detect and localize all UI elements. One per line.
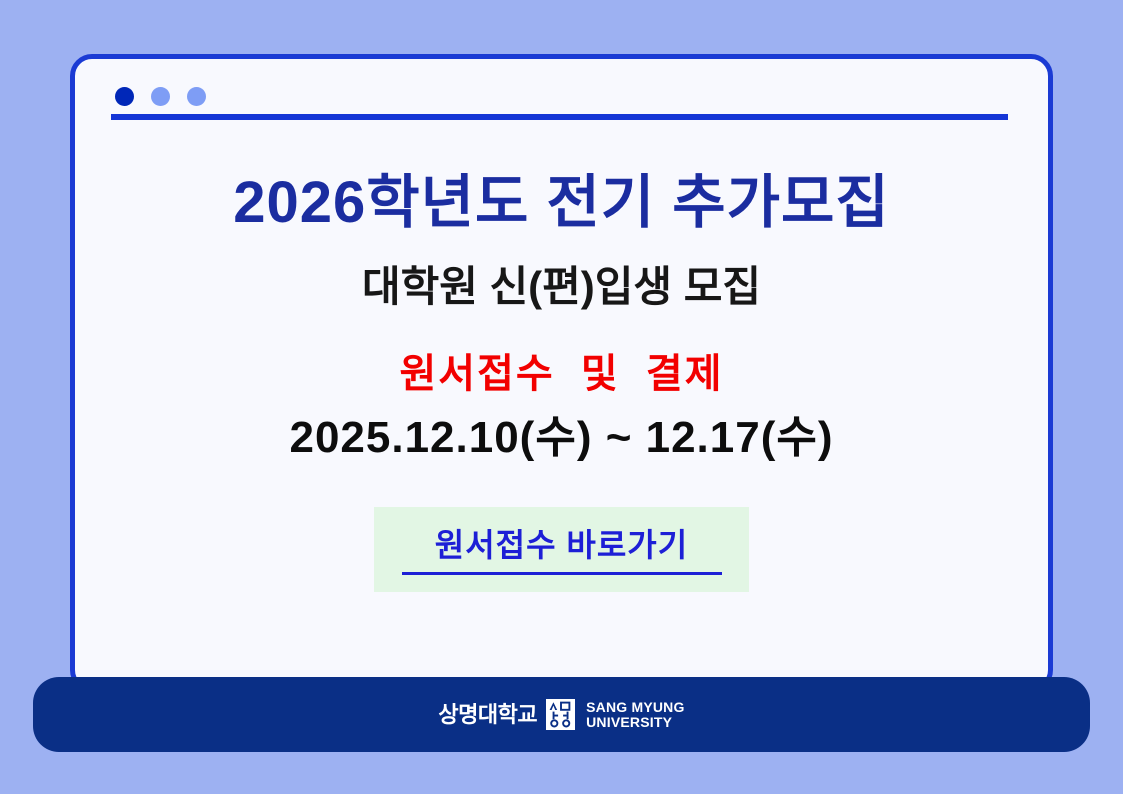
university-brand: 상명대학교 <box>438 699 684 730</box>
cta-container: 원서접수 바로가기 <box>75 507 1048 592</box>
footer-bar: 상명대학교 <box>33 677 1090 752</box>
application-period-dates: 2025.12.10(수) ~ 12.17(수) <box>75 414 1048 462</box>
window-dot-icon-1[interactable] <box>115 87 134 106</box>
poster-content: 2026학년도 전기 추가모집 대학원 신(편)입생 모집 원서접수 및 결제 … <box>75 171 1048 592</box>
page-subtitle: 대학원 신(편)입생 모집 <box>75 264 1048 310</box>
brand-english-line-1: SANG MYUNG <box>586 700 684 714</box>
window-dot-icon-2[interactable] <box>151 87 170 106</box>
brand-english-name: SANG MYUNG UNIVERSITY <box>586 700 684 729</box>
page-title: 2026학년도 전기 추가모집 <box>75 171 1048 235</box>
window-dot-icon-3[interactable] <box>187 87 206 106</box>
window-dots <box>115 87 206 106</box>
apply-now-button[interactable]: 원서접수 바로가기 <box>374 507 749 592</box>
poster-canvas: 2026학년도 전기 추가모집 대학원 신(편)입생 모집 원서접수 및 결제 … <box>0 0 1123 794</box>
brand-english-line-2: UNIVERSITY <box>586 715 684 729</box>
browser-card: 2026학년도 전기 추가모집 대학원 신(편)입생 모집 원서접수 및 결제 … <box>70 54 1053 692</box>
application-period-heading: 원서접수 및 결제 <box>75 352 1048 396</box>
sangmyung-emblem-icon <box>546 699 575 730</box>
apply-now-underline <box>402 572 722 575</box>
address-bar-rule <box>111 114 1008 120</box>
apply-now-button-label: 원서접수 바로가기 <box>435 529 688 561</box>
brand-korean-name: 상명대학교 <box>438 704 537 726</box>
